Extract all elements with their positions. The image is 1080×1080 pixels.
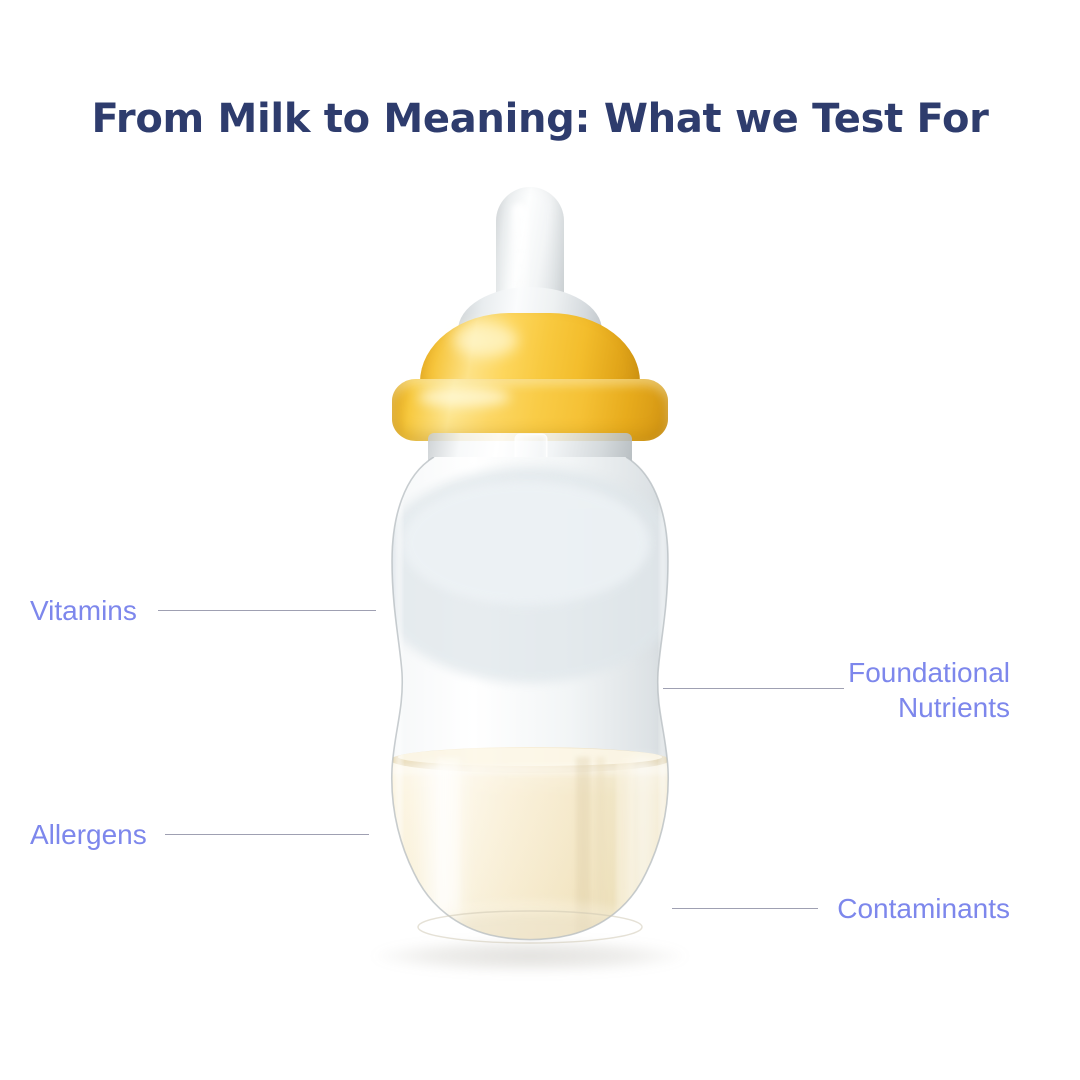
callout-leader-contaminants	[672, 908, 818, 909]
bottle-body-svg	[330, 457, 730, 975]
callout-label-allergens: Allergens	[30, 817, 170, 852]
page-title: From Milk to Meaning: What we Test For	[0, 96, 1080, 142]
bottle-body	[330, 457, 730, 975]
callout-leader-foundational-nutrients	[663, 688, 844, 689]
baby-bottle-illustration	[330, 175, 730, 975]
infographic-canvas: From Milk to Meaning: What we Test For	[0, 0, 1080, 1080]
callout-label-vitamins: Vitamins	[30, 593, 160, 628]
callout-leader-vitamins	[158, 610, 376, 611]
callout-leader-allergens	[165, 834, 369, 835]
bottle-collar-ring-icon	[392, 379, 668, 441]
callout-label-foundational-nutrients: Foundational Nutrients	[770, 655, 1010, 725]
